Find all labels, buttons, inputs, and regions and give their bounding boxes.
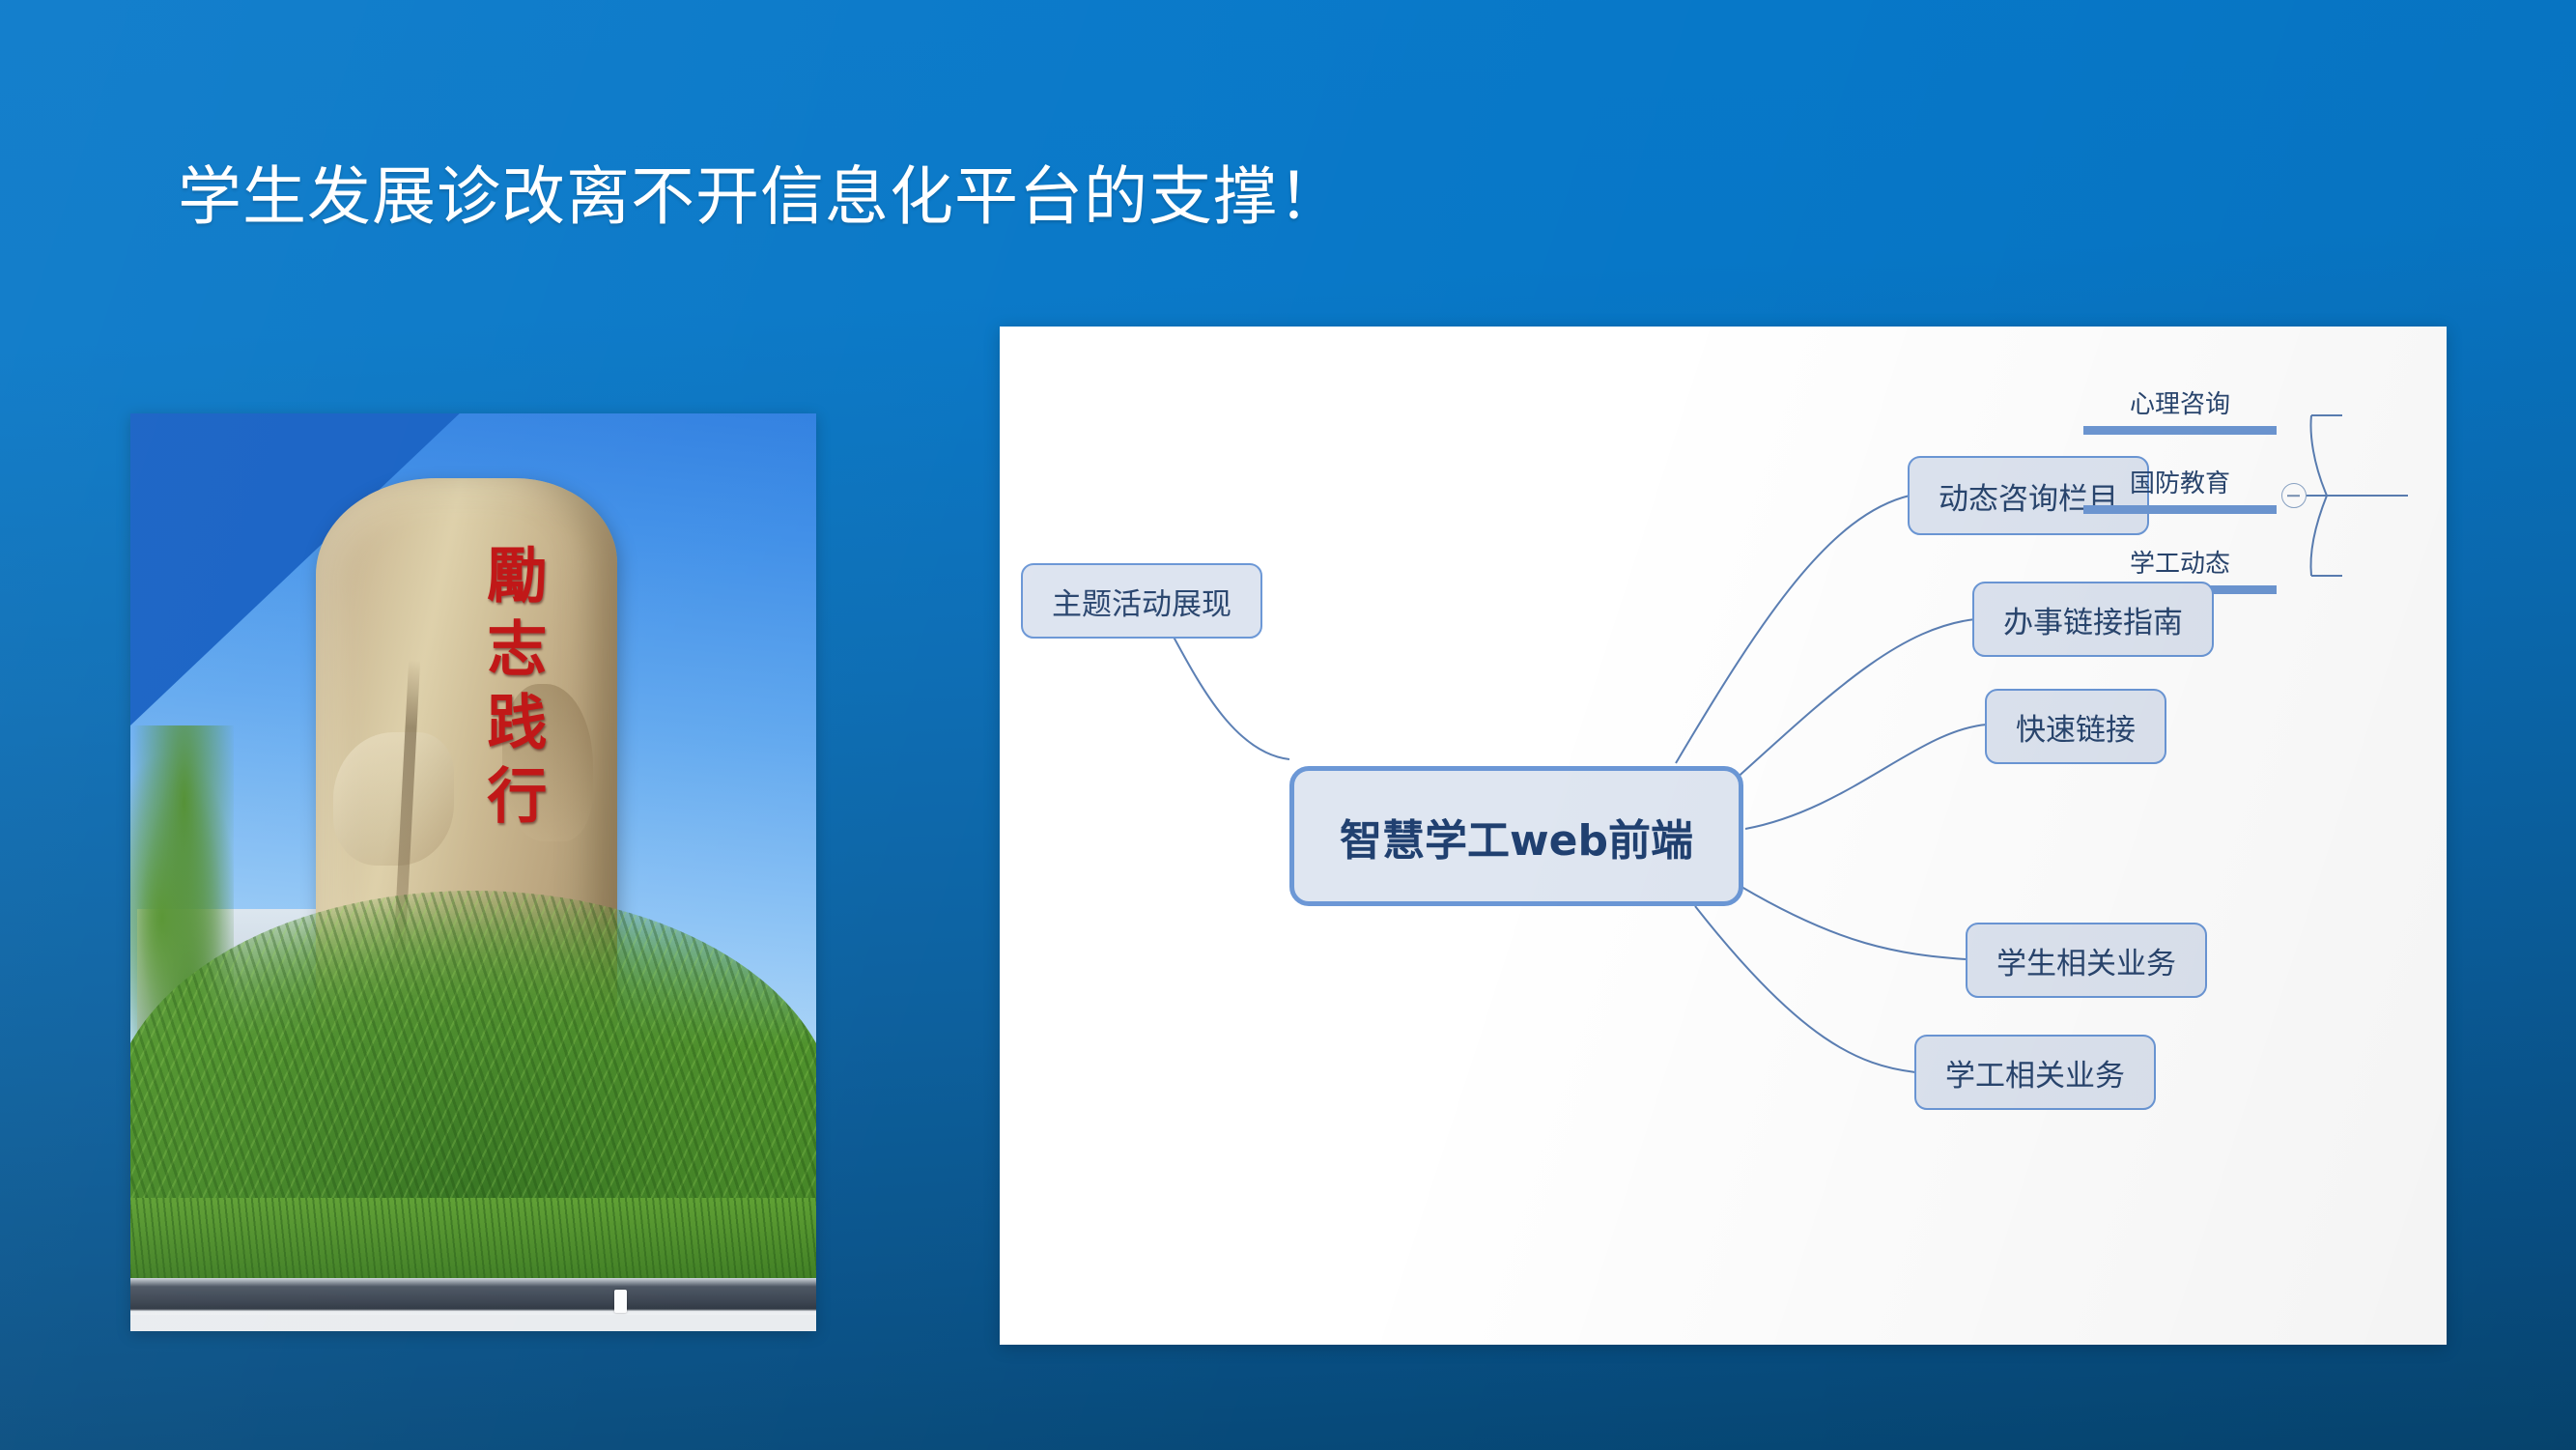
mindmap-central-node[interactable]: 智慧学工web前端	[1289, 766, 1743, 906]
photo-grass	[130, 1198, 816, 1281]
mindmap-leaf-label: 国防教育	[2130, 469, 2230, 498]
mindmap-node-theme-activity[interactable]: 主题活动展现	[1021, 563, 1262, 639]
mindmap-node-label: 快速链接	[2016, 705, 2136, 749]
connector-to-service-guide	[1734, 619, 1975, 781]
collapse-toggle-icon[interactable]	[2281, 483, 2307, 508]
stone-inscription: 勵志践行	[472, 544, 551, 838]
mindmap-leaf-label: 学工动态	[2130, 550, 2230, 579]
mindmap-node-label: 主题活动展现	[1052, 580, 1231, 623]
mindmap-leaf-label: 心理咨询	[2130, 390, 2230, 419]
connector-sub-3	[2311, 496, 2327, 576]
mindmap-central-label: 智慧学工web前端	[1340, 806, 1693, 867]
mindmap-node-label: 学工相关业务	[1945, 1051, 2125, 1095]
connector-to-student-services	[1741, 887, 1966, 959]
photo-curb-marker	[614, 1290, 627, 1313]
presentation-slide: 学生发展诊改离不开信息化平台的支撑！ 勵志践行	[0, 0, 2576, 1450]
photo-canvas: 勵志践行	[130, 413, 816, 1331]
photo-stone-highlight	[333, 732, 454, 866]
connector-to-affairs-services	[1695, 906, 1915, 1072]
connector-to-quick-links	[1745, 725, 1987, 829]
photo-ground	[130, 1315, 816, 1331]
campus-photo: 勵志践行	[130, 413, 816, 1331]
mindmap-node-student-services[interactable]: 学生相关业务	[1966, 923, 2207, 998]
page-title: 学生发展诊改离不开信息化平台的支撑！	[178, 156, 1343, 238]
mindmap-node-label: 办事链接指南	[2003, 598, 2183, 641]
photo-curb	[130, 1278, 816, 1317]
mindmap-node-service-guide[interactable]: 办事链接指南	[1972, 582, 2214, 657]
mindmap-node-affairs-services[interactable]: 学工相关业务	[1914, 1035, 2156, 1110]
mindmap-node-quick-links[interactable]: 快速链接	[1985, 689, 2166, 764]
mindmap-node-label: 学生相关业务	[1996, 939, 2176, 982]
mindmap-leaf-psych-counseling[interactable]: 心理咨询	[2083, 384, 2277, 435]
connector-to-dynamic-column	[1676, 496, 1910, 763]
connector-sub-1	[2311, 415, 2327, 496]
mindmap-leaf-defense-education[interactable]: 国防教育	[2083, 464, 2277, 514]
mindmap-panel: 智慧学工web前端 动态咨询栏目 心理咨询 国防教育 学工动态 办事链接指南 快…	[1000, 327, 2447, 1345]
